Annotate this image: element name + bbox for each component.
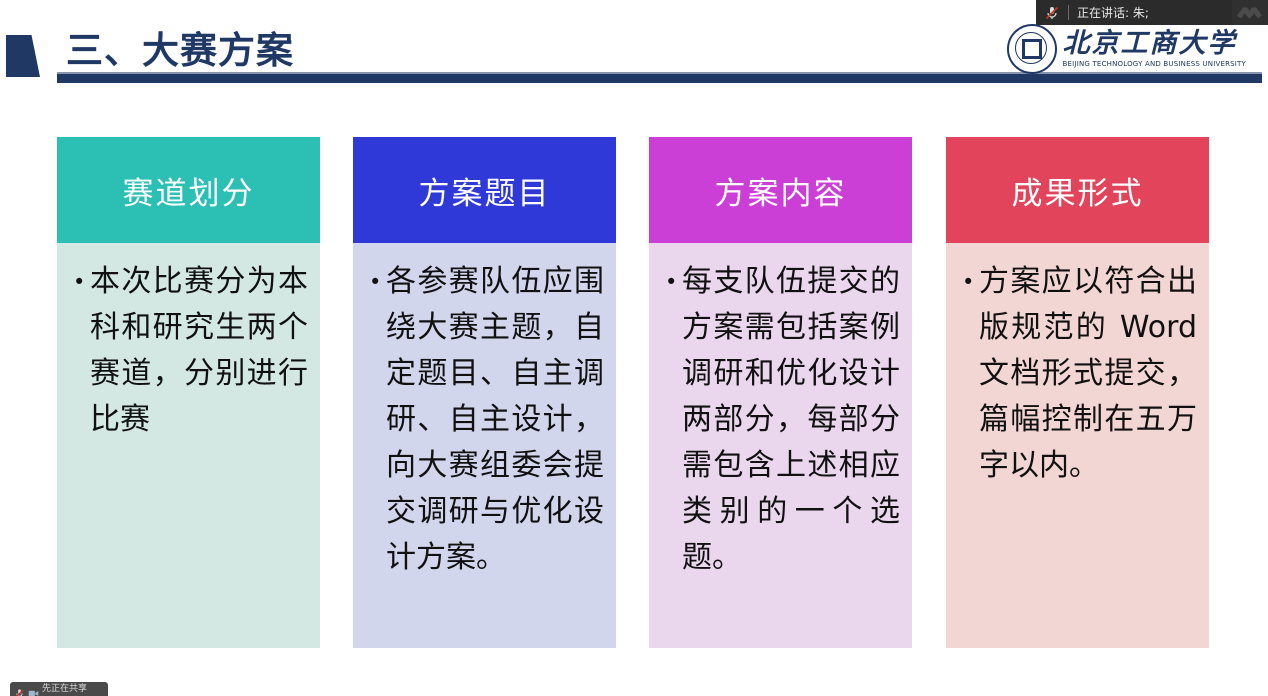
card-text: 每支队伍提交的方案需包括案例调研和优化设计两部分，每部分需包含上述相应类别的一个… [682,259,900,581]
bullet-marker: • [369,259,386,305]
microphone-muted-icon[interactable] [1044,5,1060,21]
header-accent-shape [6,35,40,77]
university-logo: 北京工商大学 BEIJING TECHNOLOGY AND BUSINESS U… [1007,24,1246,74]
camera-icon[interactable] [28,684,39,695]
bullet-item: • 本次比赛分为本科和研究生两个赛道，分别进行比赛 [71,259,308,443]
card-grid: 赛道划分 • 本次比赛分为本科和研究生两个赛道，分别进行比赛 方案题目 • 各参… [0,137,1268,649]
card-body-proposal-topic: • 各参赛队伍应围绕大赛主题，自定题目、自主调研、自主设计，向大赛组委会提交调研… [353,243,616,648]
bullet-item: • 各参赛队伍应围绕大赛主题，自定题目、自主调研、自主设计，向大赛组委会提交调研… [367,259,604,581]
screen-share-label: 先正在共享 [42,684,87,695]
microphone-muted-icon[interactable] [14,684,25,695]
university-name-cn: 北京工商大学 [1063,30,1246,57]
card-header-track-division: 赛道划分 [57,137,320,243]
card-track-division: 赛道划分 • 本次比赛分为本科和研究生两个赛道，分别进行比赛 [57,137,320,648]
card-header-proposal-content: 方案内容 [649,137,912,243]
card-proposal-topic: 方案题目 • 各参赛队伍应围绕大赛主题，自定题目、自主调研、自主设计，向大赛组委… [353,137,616,648]
bullet-marker: • [665,259,682,305]
card-body-proposal-content: • 每支队伍提交的方案需包括案例调研和优化设计两部分，每部分需包含上述相应类别的… [649,243,912,648]
university-seal-icon [1007,24,1057,74]
card-title: 赛道划分 [123,168,255,213]
card-text: 方案应以符合出版规范的 Word 文档形式提交，篇幅控制在五万字以内。 [979,259,1197,489]
card-title: 方案题目 [419,168,551,213]
university-name-en: BEIJING TECHNOLOGY AND BUSINESS UNIVERSI… [1063,60,1246,68]
double-chevron-icon[interactable] [1232,0,1268,25]
bullet-item: • 每支队伍提交的方案需包括案例调研和优化设计两部分，每部分需包含上述相应类别的… [663,259,900,581]
card-header-deliverable-form: 成果形式 [946,137,1209,243]
card-header-proposal-topic: 方案题目 [353,137,616,243]
card-body-deliverable-form: • 方案应以符合出版规范的 Word 文档形式提交，篇幅控制在五万字以内。 [946,243,1209,648]
university-name-block: 北京工商大学 BEIJING TECHNOLOGY AND BUSINESS U… [1063,30,1246,68]
overlay-divider [1068,5,1069,20]
screen-share-toolbar[interactable]: 先正在共享 [10,682,108,696]
bullet-marker: • [73,259,90,305]
speaking-status-bar[interactable]: 正在讲话: 朱; [1036,0,1232,25]
page-title: 三、大赛方案 [66,20,294,74]
speaking-label: 正在讲话: 朱; [1077,4,1228,21]
card-title: 方案内容 [715,168,847,213]
bullet-marker: • [962,259,979,305]
card-text: 本次比赛分为本科和研究生两个赛道，分别进行比赛 [90,259,308,443]
card-proposal-content: 方案内容 • 每支队伍提交的方案需包括案例调研和优化设计两部分，每部分需包含上述… [649,137,912,648]
card-text: 各参赛队伍应围绕大赛主题，自定题目、自主调研、自主设计，向大赛组委会提交调研与优… [386,259,604,581]
card-body-track-division: • 本次比赛分为本科和研究生两个赛道，分别进行比赛 [57,243,320,648]
card-title: 成果形式 [1012,168,1144,213]
bullet-item: • 方案应以符合出版规范的 Word 文档形式提交，篇幅控制在五万字以内。 [960,259,1197,489]
card-deliverable-form: 成果形式 • 方案应以符合出版规范的 Word 文档形式提交，篇幅控制在五万字以… [946,137,1209,648]
